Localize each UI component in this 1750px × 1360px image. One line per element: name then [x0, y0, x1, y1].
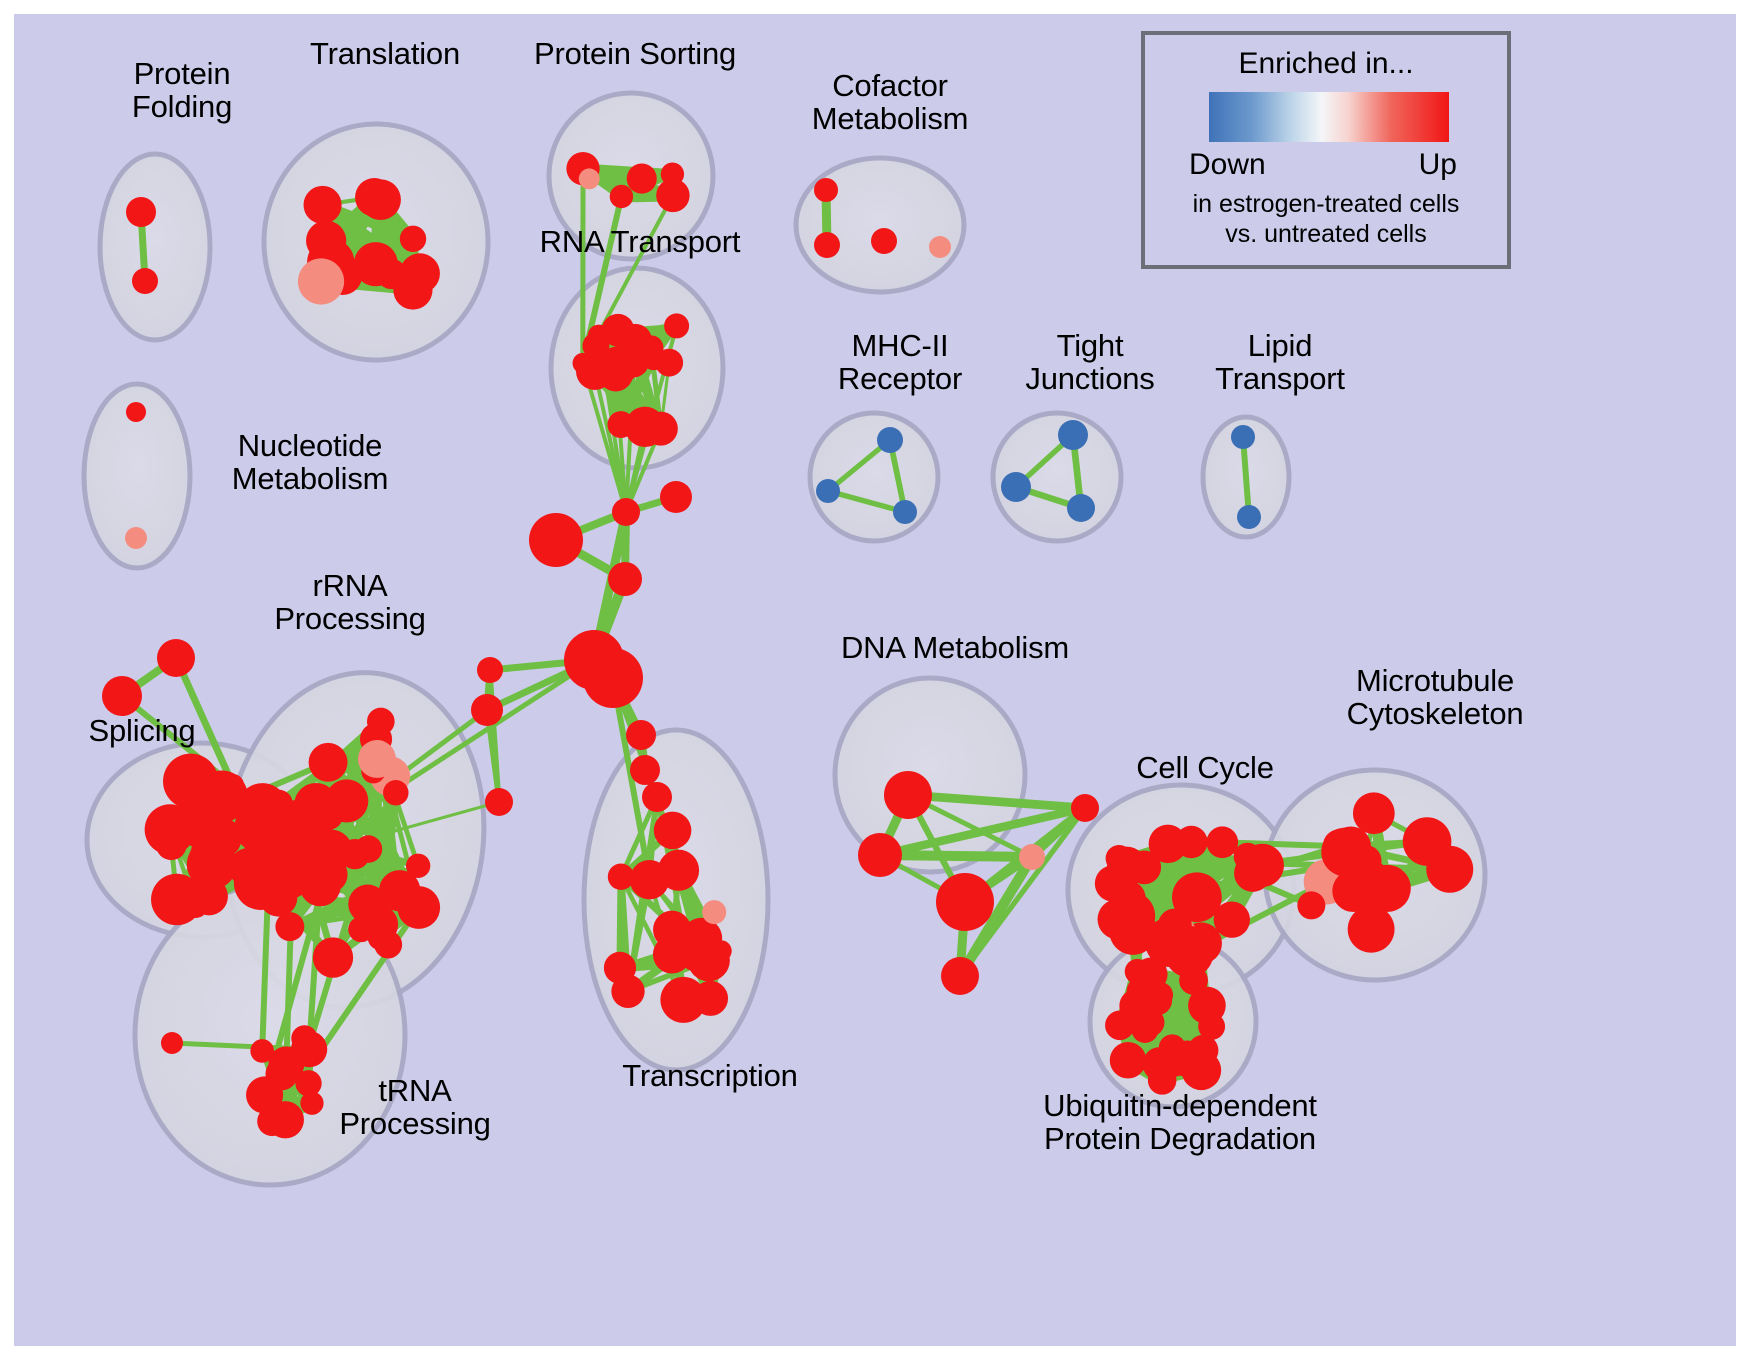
network-node [313, 937, 353, 977]
network-node [814, 232, 840, 258]
network-node [654, 812, 692, 850]
network-node [485, 788, 513, 816]
network-node [814, 178, 838, 202]
network-node [477, 657, 503, 683]
network-node [710, 940, 731, 961]
network-node [313, 799, 344, 830]
legend-high-label: Up [1419, 148, 1457, 182]
network-node [682, 950, 703, 971]
network-node [222, 774, 244, 796]
network-node [250, 1039, 274, 1063]
network-node [607, 411, 634, 438]
network-node [393, 270, 432, 309]
network-node [893, 500, 917, 524]
network-node [929, 236, 951, 258]
cluster-label-protein-folding: Protein Folding [77, 58, 287, 124]
network-node [265, 790, 292, 817]
network-node [125, 527, 147, 549]
network-node [311, 856, 348, 893]
network-node [858, 833, 902, 877]
network-node [309, 743, 348, 782]
network-node [354, 242, 398, 286]
cluster-label-dna-metabolism: DNA Metabolism [805, 632, 1105, 665]
cluster-label-lipid-transport: Lipid Transport [1180, 330, 1380, 396]
cluster-label-rna-transport: RNA Transport [490, 226, 790, 259]
network-node [658, 850, 699, 891]
network-node [1231, 425, 1255, 449]
network-node [132, 268, 158, 294]
network-node [871, 228, 897, 254]
network-node [608, 562, 642, 596]
network-node [1348, 906, 1395, 953]
network-node [1206, 826, 1238, 858]
network-node [1067, 494, 1095, 522]
network-node [267, 1101, 304, 1138]
network-node [529, 513, 583, 567]
network-node [161, 1032, 183, 1054]
network-node [259, 879, 297, 917]
network-node [604, 952, 636, 984]
network-node [702, 900, 726, 924]
network-edge [880, 855, 1032, 857]
network-node [304, 186, 342, 224]
network-node [102, 676, 142, 716]
network-node [182, 892, 208, 918]
cluster-label-translation: Translation [260, 38, 510, 71]
network-node [630, 755, 660, 785]
network-node [358, 740, 396, 778]
cluster-halo-protein-folding [100, 154, 210, 340]
network-node [884, 771, 932, 819]
network-node [583, 648, 643, 708]
network-node [291, 1025, 317, 1051]
network-node [275, 912, 304, 941]
network-node [653, 911, 691, 949]
cluster-label-transcription: Transcription [575, 1060, 845, 1093]
network-node [126, 402, 146, 422]
network-node [1119, 989, 1152, 1022]
cluster-label-ubiquitin-protein-degradation: Ubiquitin-dependent Protein Degradation [985, 1090, 1375, 1156]
cluster-label-cell-cycle: Cell Cycle [1095, 752, 1315, 785]
cluster-label-nucleotide-metabolism: Nucleotide Metabolism [195, 430, 425, 496]
network-node [1241, 844, 1284, 887]
legend-title: Enriched in... [1145, 47, 1507, 81]
network-node [126, 197, 156, 227]
cluster-label-mhc-ii-receptor: MHC-II Receptor [800, 330, 1000, 396]
network-node [1364, 865, 1411, 912]
network-node [1426, 846, 1473, 893]
network-node [265, 1058, 297, 1090]
enrichment-network-figure: Protein FoldingTranslationProtein Sortin… [0, 0, 1750, 1360]
network-node [608, 864, 634, 890]
network-node [355, 178, 394, 217]
network-node [400, 226, 426, 252]
network-node [816, 479, 840, 503]
network-node [627, 164, 657, 194]
network-node [367, 708, 395, 736]
legend-color-gradient [1209, 92, 1449, 142]
network-node [176, 794, 231, 849]
network-node [877, 427, 903, 453]
legend-caption: in estrogen-treated cells vs. untreated … [1145, 190, 1507, 249]
cluster-label-rrna-processing: rRNA Processing [240, 570, 460, 636]
network-node [1237, 505, 1261, 529]
network-node [1143, 1047, 1177, 1081]
network-node [383, 780, 408, 805]
network-node [1110, 1042, 1146, 1078]
network-node [1071, 794, 1099, 822]
network-node [1214, 901, 1250, 937]
legend-low-label: Down [1189, 148, 1266, 182]
cluster-label-tight-junctions: Tight Junctions [990, 330, 1190, 396]
network-node [664, 313, 689, 338]
network-node [626, 720, 656, 750]
legend-box: Enriched in... Down Up in estrogen-treat… [1141, 31, 1511, 269]
network-node [660, 481, 692, 513]
network-node [936, 873, 994, 931]
network-node [471, 694, 503, 726]
cluster-halo-cofactor-metabolism [796, 158, 964, 292]
network-node [579, 168, 600, 189]
cluster-label-trna-processing: tRNA Processing [310, 1075, 520, 1141]
network-node [1175, 826, 1207, 858]
network-node [298, 258, 344, 304]
network-node [1353, 792, 1395, 834]
cluster-label-splicing: Splicing [52, 715, 232, 748]
network-node [582, 332, 609, 359]
network-node [656, 179, 689, 212]
network-node [1107, 847, 1147, 887]
network-node [1198, 1013, 1225, 1040]
network-node [1001, 472, 1031, 502]
network-node [368, 926, 392, 950]
network-node [660, 977, 706, 1023]
cluster-halo-mhc-ii-receptor [810, 413, 938, 541]
network-node [1179, 966, 1208, 995]
network-node [1058, 420, 1088, 450]
network-node [612, 498, 640, 526]
cluster-label-cofactor-metabolism: Cofactor Metabolism [780, 70, 1000, 136]
network-node [642, 782, 672, 812]
network-node [397, 886, 440, 929]
network-node [617, 345, 649, 377]
network-node [1134, 958, 1168, 992]
network-node [1019, 844, 1045, 870]
network-node [941, 957, 979, 995]
network-node [157, 639, 195, 677]
network-node [610, 185, 633, 208]
network-node [1098, 899, 1138, 939]
cluster-label-protein-sorting: Protein Sorting [480, 38, 790, 71]
network-node [1297, 891, 1325, 919]
cluster-label-microtubule-cytoskeleton: Microtubule Cytoskeleton [1300, 665, 1570, 731]
